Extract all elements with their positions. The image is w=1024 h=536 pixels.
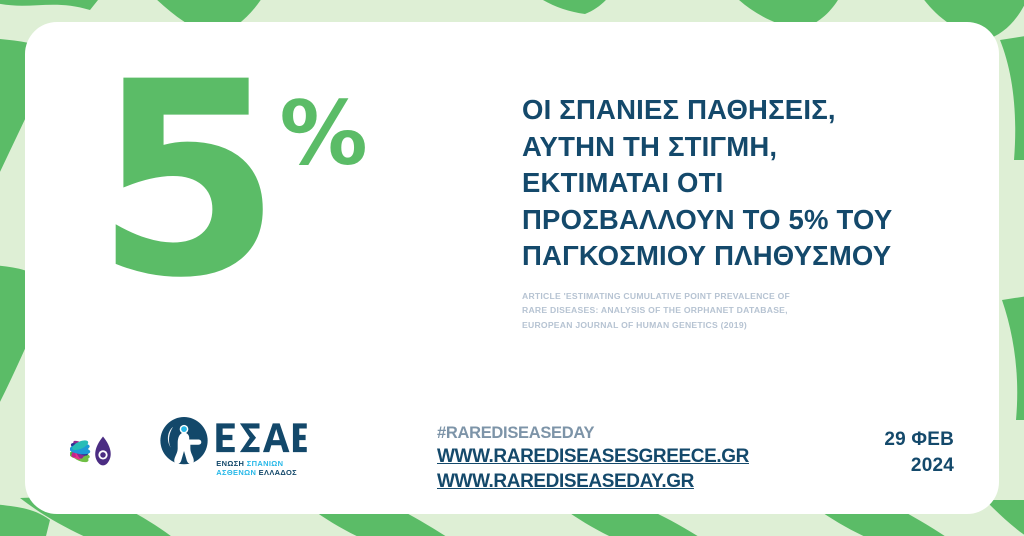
website-link-rarediseasesgreece[interactable]: WWW.RAREDISEASESGREECE.GR	[437, 444, 749, 470]
headline: ΟΙ ΣΠΑΝΙΕΣ ΠΑΘΗΣΕΙΣ, ΑΥΤΗΝ ΤΗ ΣΤΙΓΜΗ, ΕΚ…	[522, 92, 952, 275]
esae-logo-icon: ΕΝΩΣΗ ΣΠΑΝΙΩΝ ΑΣΘΕΝΩΝ ΕΛΛΑΔΟΣ	[158, 413, 308, 481]
links-block: #RAREDISEASEDAY WWW.RAREDISEASESGREECE.G…	[437, 423, 749, 495]
footer: ΕΝΩΣΗ ΣΠΑΝΙΩΝ ΑΣΘΕΝΩΝ ΕΛΛΑΔΟΣ #RAREDISEA…	[0, 405, 1024, 505]
event-date-day-month: 29 ΦΕΒ	[884, 427, 954, 453]
event-date-year: 2024	[884, 453, 954, 479]
headline-line-3: ΕΚΤΙΜΑΤΑΙ ΟΤΙ	[522, 165, 952, 202]
source-citation: ARTICLE 'ESTIMATING CUMULATIVE POINT PRE…	[522, 289, 882, 332]
headline-line-5: ΠΑΓΚΟΣΜΙΟΥ ΠΛΗΘΥΣΜΟΥ	[522, 238, 952, 275]
svg-text:ΑΣΘΕΝΩΝ ΕΛΛΑΔΟΣ: ΑΣΘΕΝΩΝ ΕΛΛΑΔΟΣ	[216, 468, 297, 477]
statistic-number: 5	[95, 72, 275, 292]
logo-group: ΕΝΩΣΗ ΣΠΑΝΙΩΝ ΑΣΘΕΝΩΝ ΕΛΛΑΔΟΣ	[70, 413, 308, 481]
headline-line-1: ΟΙ ΣΠΑΝΙΕΣ ΠΑΘΗΣΕΙΣ,	[522, 92, 952, 129]
website-link-rarediseaseday[interactable]: WWW.RAREDISEASEDAY.GR	[437, 469, 749, 495]
esae-wordmark	[216, 423, 306, 452]
percent-sign: %	[279, 90, 367, 178]
event-date: 29 ΦΕΒ 2024	[884, 427, 954, 478]
esae-globe-icon	[160, 417, 207, 464]
statistic-block: 5 %	[95, 72, 455, 322]
headline-line-4: ΠΡΟΣΒΑΛΛΟΥΝ ΤΟ 5% ΤΟΥ	[522, 202, 952, 239]
citation-line-2: RARE DISEASES: ANALYSIS OF THE ORPHANET …	[522, 303, 882, 317]
rare-disease-day-hands-icon	[70, 414, 136, 480]
hashtag-label: #RAREDISEASEDAY	[437, 423, 749, 444]
headline-line-2: ΑΥΤΗΝ ΤΗ ΣΤΙΓΜΗ,	[522, 129, 952, 166]
esae-subtitle: ΕΝΩΣΗ ΣΠΑΝΙΩΝ ΑΣΘΕΝΩΝ ΕΛΛΑΔΟΣ	[216, 459, 297, 477]
citation-line-3: EUROPEAN JOURNAL OF HUMAN GENETICS (2019…	[522, 318, 882, 332]
svg-text:ΕΝΩΣΗ ΣΠΑΝΙΩΝ: ΕΝΩΣΗ ΣΠΑΝΙΩΝ	[216, 459, 283, 468]
citation-line-1: ARTICLE 'ESTIMATING CUMULATIVE POINT PRE…	[522, 289, 882, 303]
